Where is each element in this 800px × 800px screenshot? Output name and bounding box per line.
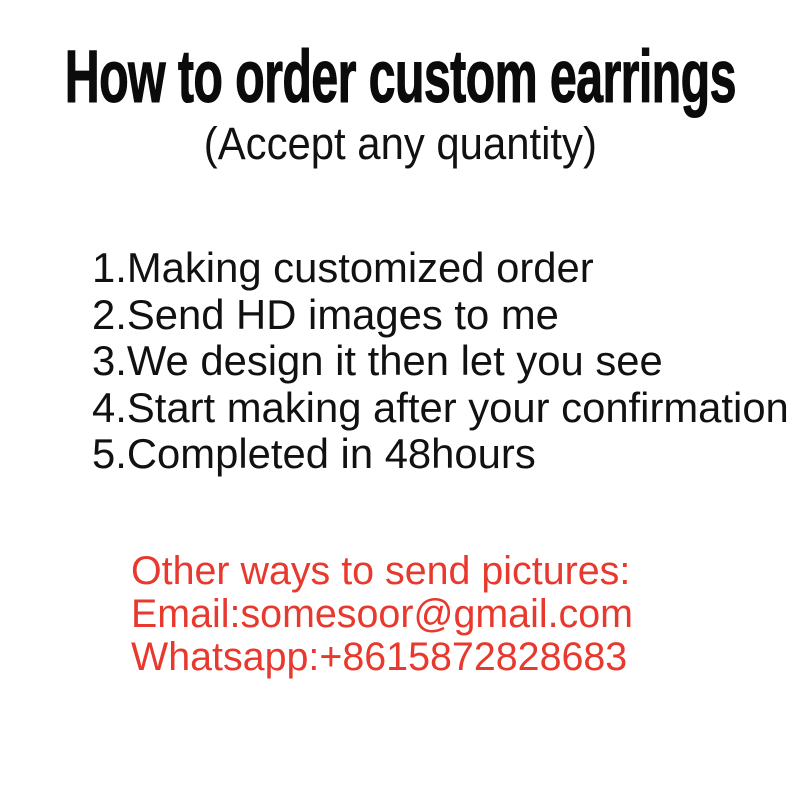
page-subtitle-container: (Accept any quantity)	[0, 119, 800, 169]
list-item: 3.We design it then let you see	[92, 338, 789, 385]
page-title: How to order custom earrings	[64, 40, 735, 114]
page-title-container: How to order custom earrings	[0, 40, 800, 118]
contact-whatsapp: Whatsapp:+8615872828683	[131, 636, 781, 679]
page-subtitle: (Accept any quantity)	[203, 119, 596, 169]
contact-heading: Other ways to send pictures:	[131, 550, 781, 593]
list-item: 2.Send HD images to me	[92, 292, 789, 339]
list-item: 1.Making customized order	[92, 245, 789, 292]
instruction-poster: How to order custom earrings (Accept any…	[0, 0, 800, 800]
contact-block: Other ways to send pictures: Email:somes…	[131, 550, 791, 679]
list-item: 5.Completed in 48hours	[92, 431, 789, 478]
contact-email: Email:somesoor@gmail.com	[131, 593, 781, 636]
order-steps-list: 1.Making customized order 2.Send HD imag…	[92, 245, 792, 478]
list-item: 4.Start making after your confirmation	[92, 385, 789, 432]
